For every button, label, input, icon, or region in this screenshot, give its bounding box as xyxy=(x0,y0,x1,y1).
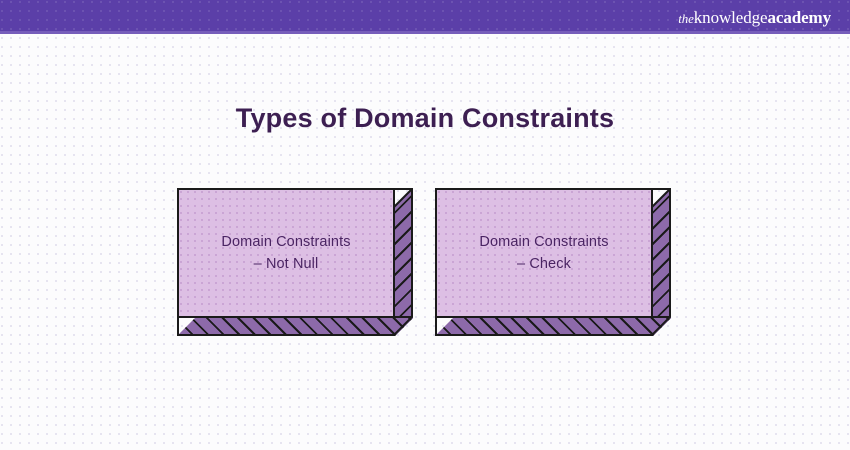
brand-knowledge-text: knowledge xyxy=(694,8,768,27)
box-face: Domain Constraints – Check xyxy=(435,188,653,318)
box-bevel-right xyxy=(653,188,671,336)
box-bevel-bottom xyxy=(435,318,671,336)
box-label: Domain Constraints – Not Null xyxy=(211,231,360,275)
box-bevel-bottom xyxy=(177,318,413,336)
box-face: Domain Constraints – Not Null xyxy=(177,188,395,318)
constraint-box-not-null: Domain Constraints – Not Null xyxy=(177,188,413,336)
constraint-box-check: Domain Constraints – Check xyxy=(435,188,671,336)
box-label-line2: – Check xyxy=(517,256,571,272)
box-bevel-right xyxy=(395,188,413,336)
box-label-line1: Domain Constraints xyxy=(479,234,608,250)
box-label-line1: Domain Constraints xyxy=(221,234,350,250)
box-label: Domain Constraints – Check xyxy=(469,231,618,275)
brand-academy-text: academy xyxy=(767,8,831,27)
brand-logo: theknowledgeacademy xyxy=(678,8,831,28)
slide-canvas: theknowledgeacademy Types of Domain Cons… xyxy=(0,0,850,450)
page-title: Types of Domain Constraints xyxy=(0,103,850,134)
box-label-line2: – Not Null xyxy=(254,256,319,272)
header-band: theknowledgeacademy xyxy=(0,0,850,34)
brand-the-text: the xyxy=(678,11,694,26)
